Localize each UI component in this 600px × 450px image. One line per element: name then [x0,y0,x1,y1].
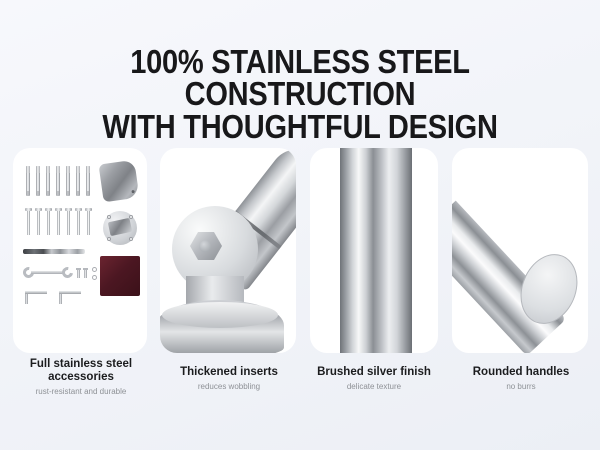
caption-subtitle: reduces wobbling [158,382,300,392]
feature-card-handles [452,148,588,353]
headline: 100% STAINLESS STEEL CONSTRUCTION WITH T… [0,46,600,143]
feature-cards [0,148,600,353]
bracket-joint-image [160,148,296,353]
bracket-cover-part [99,160,140,203]
drill-bit-icon [23,249,85,254]
feature-card-inserts [160,148,296,353]
accessory-kit-image [13,148,147,353]
feature-captions: Full stainless steel accessories rust-re… [0,358,600,418]
headline-line-2: WITH THOUGHTFUL DESIGN [36,111,564,143]
caption-subtitle: delicate texture [306,382,442,392]
headline-line-1: 100% STAINLESS STEEL CONSTRUCTION [36,46,564,109]
brushed-tube-image [340,148,412,353]
caption-finish: Brushed silver finish delicate texture [306,366,442,392]
caption-subtitle: rust-resistant and durable [8,387,154,397]
feature-card-accessories [13,148,147,353]
sanding-pad-part [100,256,140,296]
caption-title: Thickened inserts [158,366,300,379]
caption-accessories: Full stainless steel accessories rust-re… [8,358,154,397]
feature-card-finish [310,148,438,353]
caption-title: Rounded handles [448,366,594,379]
product-feature-banner: 100% STAINLESS STEEL CONSTRUCTION WITH T… [0,0,600,450]
caption-title: Full stainless steel accessories [8,358,154,384]
caption-inserts: Thickened inserts reduces wobbling [158,366,300,392]
caption-subtitle: no burrs [448,382,594,392]
wrench-icon [23,267,73,278]
caption-handles: Rounded handles no burrs [448,366,594,392]
mounting-plate-part [103,211,137,245]
caption-title: Brushed silver finish [306,366,442,379]
rounded-rod-image [452,148,588,353]
